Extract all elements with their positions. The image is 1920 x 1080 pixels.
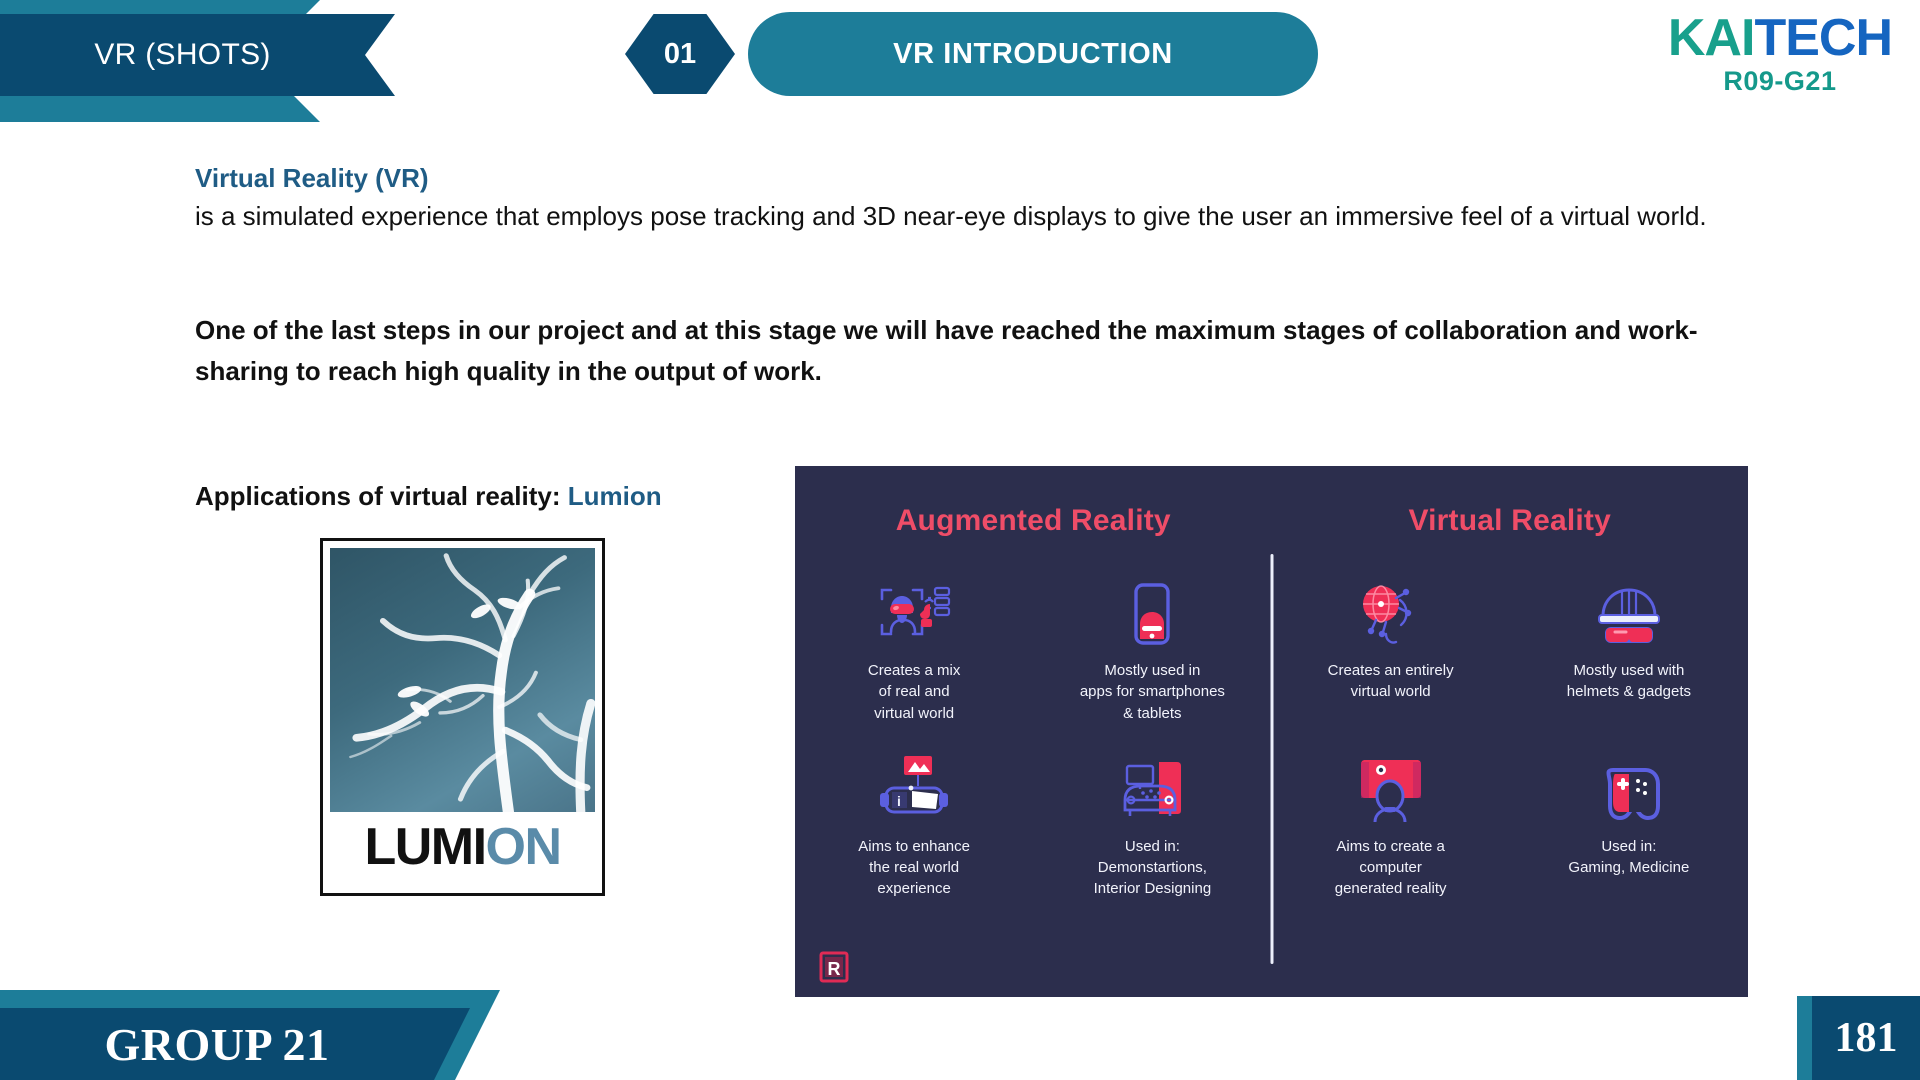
applications-value: Lumion bbox=[568, 481, 662, 511]
infographic-cell: Mostly used in apps for smartphones & ta… bbox=[1033, 562, 1271, 732]
infographic-cell: Aims to create a computer generated real… bbox=[1272, 738, 1510, 908]
infographic-cell-caption: Aims to create a computer generated real… bbox=[1335, 836, 1447, 900]
section-title-text: VR INTRODUCTION bbox=[893, 38, 1173, 71]
logo-wordmark-part-1: KAI bbox=[1668, 9, 1755, 67]
infographic-cell: Creates an entirely virtual world bbox=[1272, 562, 1510, 732]
tree-branches-icon bbox=[330, 548, 595, 812]
r-watermark-icon: R bbox=[819, 951, 849, 983]
svg-text:R: R bbox=[828, 959, 841, 979]
infographic-cell-caption: Aims to enhance the real world experienc… bbox=[858, 836, 970, 900]
kaitech-logo: KAITECH R09-G21 bbox=[1668, 12, 1892, 95]
infographic-cell-caption: Mostly used with helmets & gadgets bbox=[1567, 660, 1691, 703]
applications-label: Applications of virtual reality: bbox=[195, 481, 561, 511]
section-title-pill: VR INTRODUCTION bbox=[748, 12, 1318, 96]
ar-vr-comparison-infographic: Augmented Reality Virtual Reality bbox=[795, 466, 1748, 997]
header-left-tab-label: VR (SHOTS) bbox=[0, 14, 365, 96]
infographic-cell-caption: Creates a mix of real and virtual world bbox=[868, 660, 961, 724]
vr-user-screen-icon bbox=[1357, 752, 1425, 824]
ar-face-scan-icon bbox=[875, 576, 953, 648]
globe-network-icon bbox=[1356, 576, 1426, 648]
infographic-cell-caption: Creates an entirely virtual world bbox=[1328, 660, 1454, 703]
body-content: Virtual Reality (VR) is a simulated expe… bbox=[195, 160, 1780, 512]
lumion-wordmark: LUMION bbox=[330, 810, 595, 884]
ar-headset-projection-icon: i bbox=[878, 752, 950, 824]
smartphone-icon bbox=[1124, 576, 1180, 648]
gamepad-icon bbox=[1593, 752, 1665, 824]
lumion-logo-image: LUMION bbox=[320, 538, 605, 896]
logo-wordmark: KAITECH bbox=[1668, 12, 1892, 64]
infographic-cell: Used in: Gaming, Medicine bbox=[1510, 738, 1748, 908]
infographic-cell: Creates a mix of real and virtual world bbox=[795, 562, 1033, 732]
infographic-cell-caption: Used in: Gaming, Medicine bbox=[1568, 836, 1689, 879]
logo-wordmark-part-2: TECH bbox=[1754, 9, 1892, 67]
page-number: 181 bbox=[1812, 996, 1920, 1080]
lumion-tree-artwork bbox=[330, 548, 595, 812]
vr-helmet-goggles-icon bbox=[1593, 576, 1665, 648]
infographic-cell-caption: Used in: Demonstartions, Interior Design… bbox=[1094, 836, 1212, 900]
footer-group-label: GROUP 21 bbox=[0, 1008, 434, 1080]
lumion-wordmark-part-2: ON bbox=[486, 821, 561, 873]
infographic-titles: Augmented Reality Virtual Reality bbox=[795, 466, 1748, 538]
project-statement: One of the last steps in our project and… bbox=[195, 310, 1725, 391]
logo-subtitle: R09-G21 bbox=[1668, 68, 1892, 95]
lumion-wordmark-part-1: LUMI bbox=[364, 821, 485, 873]
svg-text:i: i bbox=[897, 793, 901, 809]
section-number-hexagon: 01 bbox=[625, 14, 735, 94]
infographic-cell: i Aims to enhance the real world experie… bbox=[795, 738, 1033, 908]
definition-text: is a simulated experience that employs p… bbox=[195, 198, 1770, 236]
section-number-text: 01 bbox=[664, 38, 696, 71]
infographic-cell-caption: Mostly used in apps for smartphones & ta… bbox=[1080, 660, 1225, 724]
slide-root: VR (SHOTS) VR INTRODUCTION 01 KAITECH R0… bbox=[0, 0, 1920, 1080]
infographic-title-vr: Virtual Reality bbox=[1272, 504, 1749, 538]
sofa-interior-icon bbox=[1119, 752, 1185, 824]
infographic-grid: Creates a mix of real and virtual world … bbox=[795, 562, 1748, 908]
infographic-title-ar: Augmented Reality bbox=[795, 504, 1272, 538]
infographic-cell: Used in: Demonstartions, Interior Design… bbox=[1033, 738, 1271, 908]
lumion-image-inner: LUMION bbox=[330, 548, 595, 886]
infographic-cell: Mostly used with helmets & gadgets bbox=[1510, 562, 1748, 732]
definition-term: Virtual Reality (VR) bbox=[195, 160, 1780, 198]
